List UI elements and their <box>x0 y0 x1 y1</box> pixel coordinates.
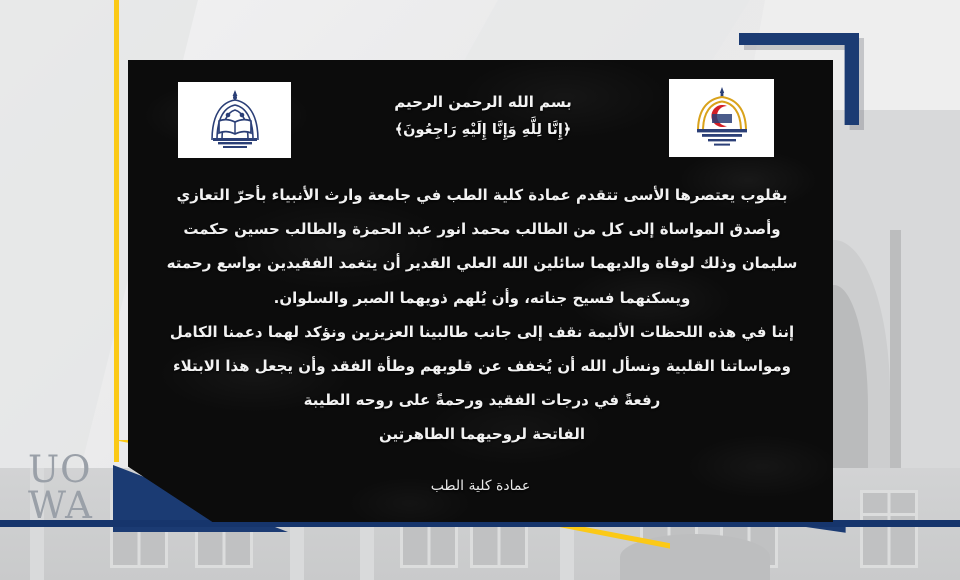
column <box>890 230 901 490</box>
body-line: سليمان وذلك لوفاة والديهما سائلين الله ا… <box>144 246 820 280</box>
wordmark-line-2: WA <box>28 488 112 524</box>
body-line: ومواساتنا القلبية ونسأل الله أن يُخفف عن… <box>144 349 820 383</box>
wordmark-line-1: UO <box>28 452 112 488</box>
university-emblem-icon <box>198 88 272 152</box>
yellow-vertical-stripe <box>114 0 119 462</box>
college-of-medicine-logo <box>669 79 774 157</box>
condolence-body: بقلوب يعتصرها الأسى تتقدم عمادة كلية الط… <box>144 178 820 452</box>
facade-window <box>860 490 918 568</box>
body-line: وأصدق المواساة إلى كل من الطالب محمد انو… <box>144 212 820 246</box>
body-line: رفعةً في درجات الفقيد ورحمةً على روحه ال… <box>144 383 820 417</box>
university-logo <box>178 82 291 158</box>
body-line: إننا في هذه اللحظات الأليمة نقف إلى جانب… <box>144 315 820 349</box>
poster-canvas: UO WA <box>0 0 960 580</box>
college-of-medicine-emblem-icon <box>687 85 757 151</box>
card-header-text: بسم الله الرحمن الرحيم ﴿إِنَّا لِلَّهِ و… <box>323 88 643 144</box>
basmala-line: بسم الله الرحمن الرحيم <box>323 88 643 117</box>
card-content: بسم الله الرحمن الرحيم ﴿إِنَّا لِلَّهِ و… <box>128 60 833 522</box>
signature-line: عمادة كلية الطب <box>128 478 833 494</box>
uowa-wordmark: UO WA <box>28 452 112 526</box>
body-line: الفاتحة لروحيهما الطاهرتين <box>144 417 820 451</box>
body-line: بقلوب يعتصرها الأسى تتقدم عمادة كلية الط… <box>144 178 820 212</box>
body-line: ويسكنهما فسيح جناته، وأن يُلهم ذويهما ال… <box>144 281 820 315</box>
quran-verse-line: ﴿إِنَّا لِلَّهِ وَإِنَّا إِلَيْهِ رَاجِع… <box>323 117 643 145</box>
condolence-card: بسم الله الرحمن الرحيم ﴿إِنَّا لِلَّهِ و… <box>128 60 833 522</box>
